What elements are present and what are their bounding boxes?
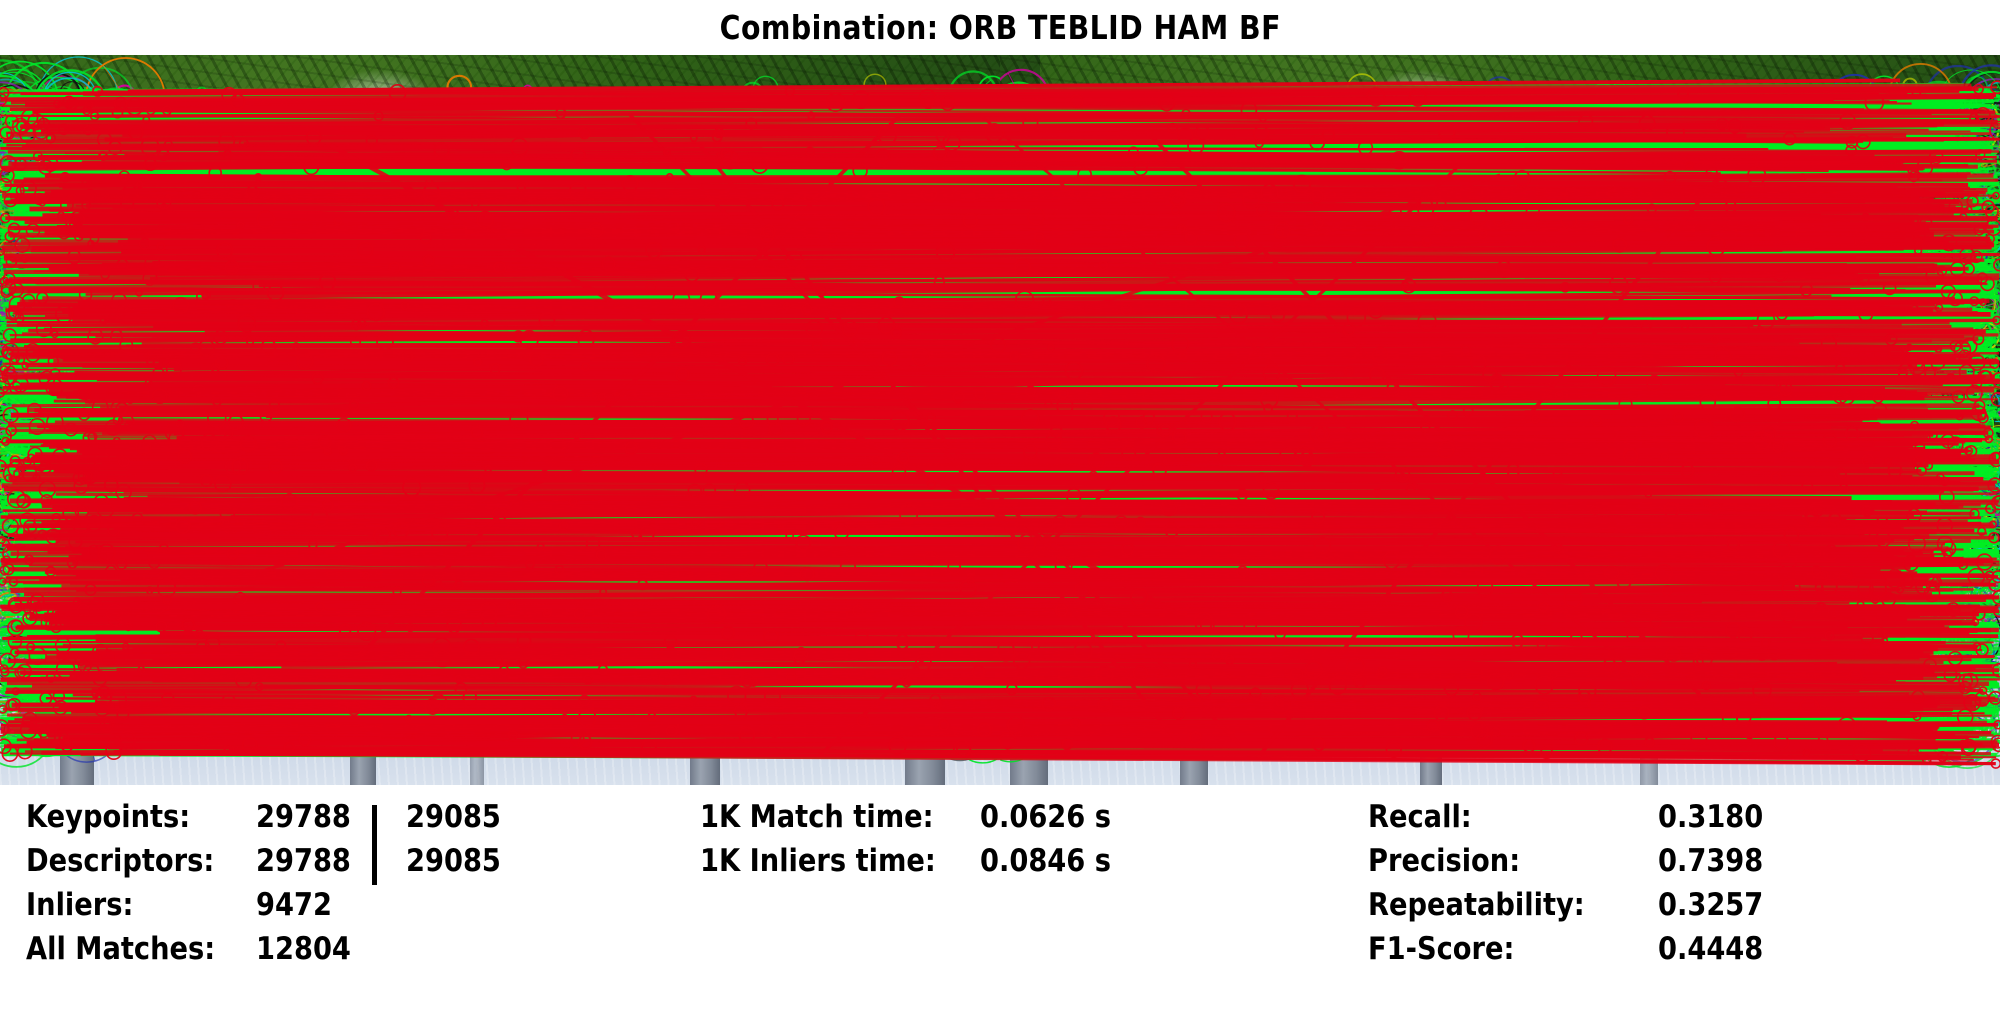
- stat-value: 9472: [256, 887, 388, 923]
- stat-row: Keypoints: 29788 29085: [26, 799, 556, 843]
- stat-row: Recall: 0.3180: [1368, 799, 1778, 843]
- feature-match-visualization: [0, 55, 2000, 785]
- stat-label: Precision:: [1368, 843, 1623, 879]
- stat-value: 0.0626 s: [980, 799, 1111, 835]
- stat-row: Precision: 0.7398: [1368, 843, 1778, 887]
- stat-label: All Matches:: [26, 931, 228, 967]
- stat-row: Descriptors: 29788 29085: [26, 843, 556, 887]
- stat-value: 0.0846 s: [980, 843, 1111, 879]
- stat-label: Keypoints:: [26, 799, 228, 835]
- stat-value: 0.3180: [1658, 799, 1763, 835]
- stat-value-secondary: 29085: [406, 843, 538, 879]
- stat-label: Inliers:: [26, 887, 228, 923]
- stat-value: 0.7398: [1658, 843, 1763, 879]
- stat-value: 0.3257: [1658, 887, 1763, 923]
- stat-row: All Matches: 12804: [26, 931, 556, 975]
- stat-row: F1-Score: 0.4448: [1368, 931, 1778, 975]
- stat-value: 29788: [256, 843, 388, 879]
- stat-label: 1K Match time:: [700, 799, 946, 835]
- stat-value-secondary: 29085: [406, 799, 538, 835]
- match-lines-overlay: [0, 55, 2000, 785]
- stat-value: 12804: [256, 931, 388, 967]
- stat-value: 29788: [256, 799, 388, 835]
- statistics-panel: Keypoints: 29788 29085 Descriptors: 2978…: [0, 785, 2000, 1028]
- stat-row: 1K Inliers time: 0.0846 s: [700, 843, 1129, 887]
- stat-label: Recall:: [1368, 799, 1623, 835]
- stats-column-counts: Keypoints: 29788 29085 Descriptors: 2978…: [26, 799, 556, 975]
- stat-label: Descriptors:: [26, 843, 228, 879]
- stats-column-timing: 1K Match time: 0.0626 s 1K Inliers time:…: [700, 799, 1129, 887]
- stat-label: 1K Inliers time:: [700, 843, 946, 879]
- stat-row: 1K Match time: 0.0626 s: [700, 799, 1129, 843]
- stat-row: Inliers: 9472: [26, 887, 556, 931]
- title-bar: Combination: ORB TEBLID HAM BF: [0, 0, 2000, 55]
- stat-label: Repeatability:: [1368, 887, 1623, 923]
- page-title: Combination: ORB TEBLID HAM BF: [719, 8, 1280, 47]
- stat-label: F1-Score:: [1368, 931, 1623, 967]
- stat-row: Repeatability: 0.3257: [1368, 887, 1778, 931]
- stats-column-metrics: Recall: 0.3180 Precision: 0.7398 Repeata…: [1368, 799, 1778, 975]
- stat-value: 0.4448: [1658, 931, 1763, 967]
